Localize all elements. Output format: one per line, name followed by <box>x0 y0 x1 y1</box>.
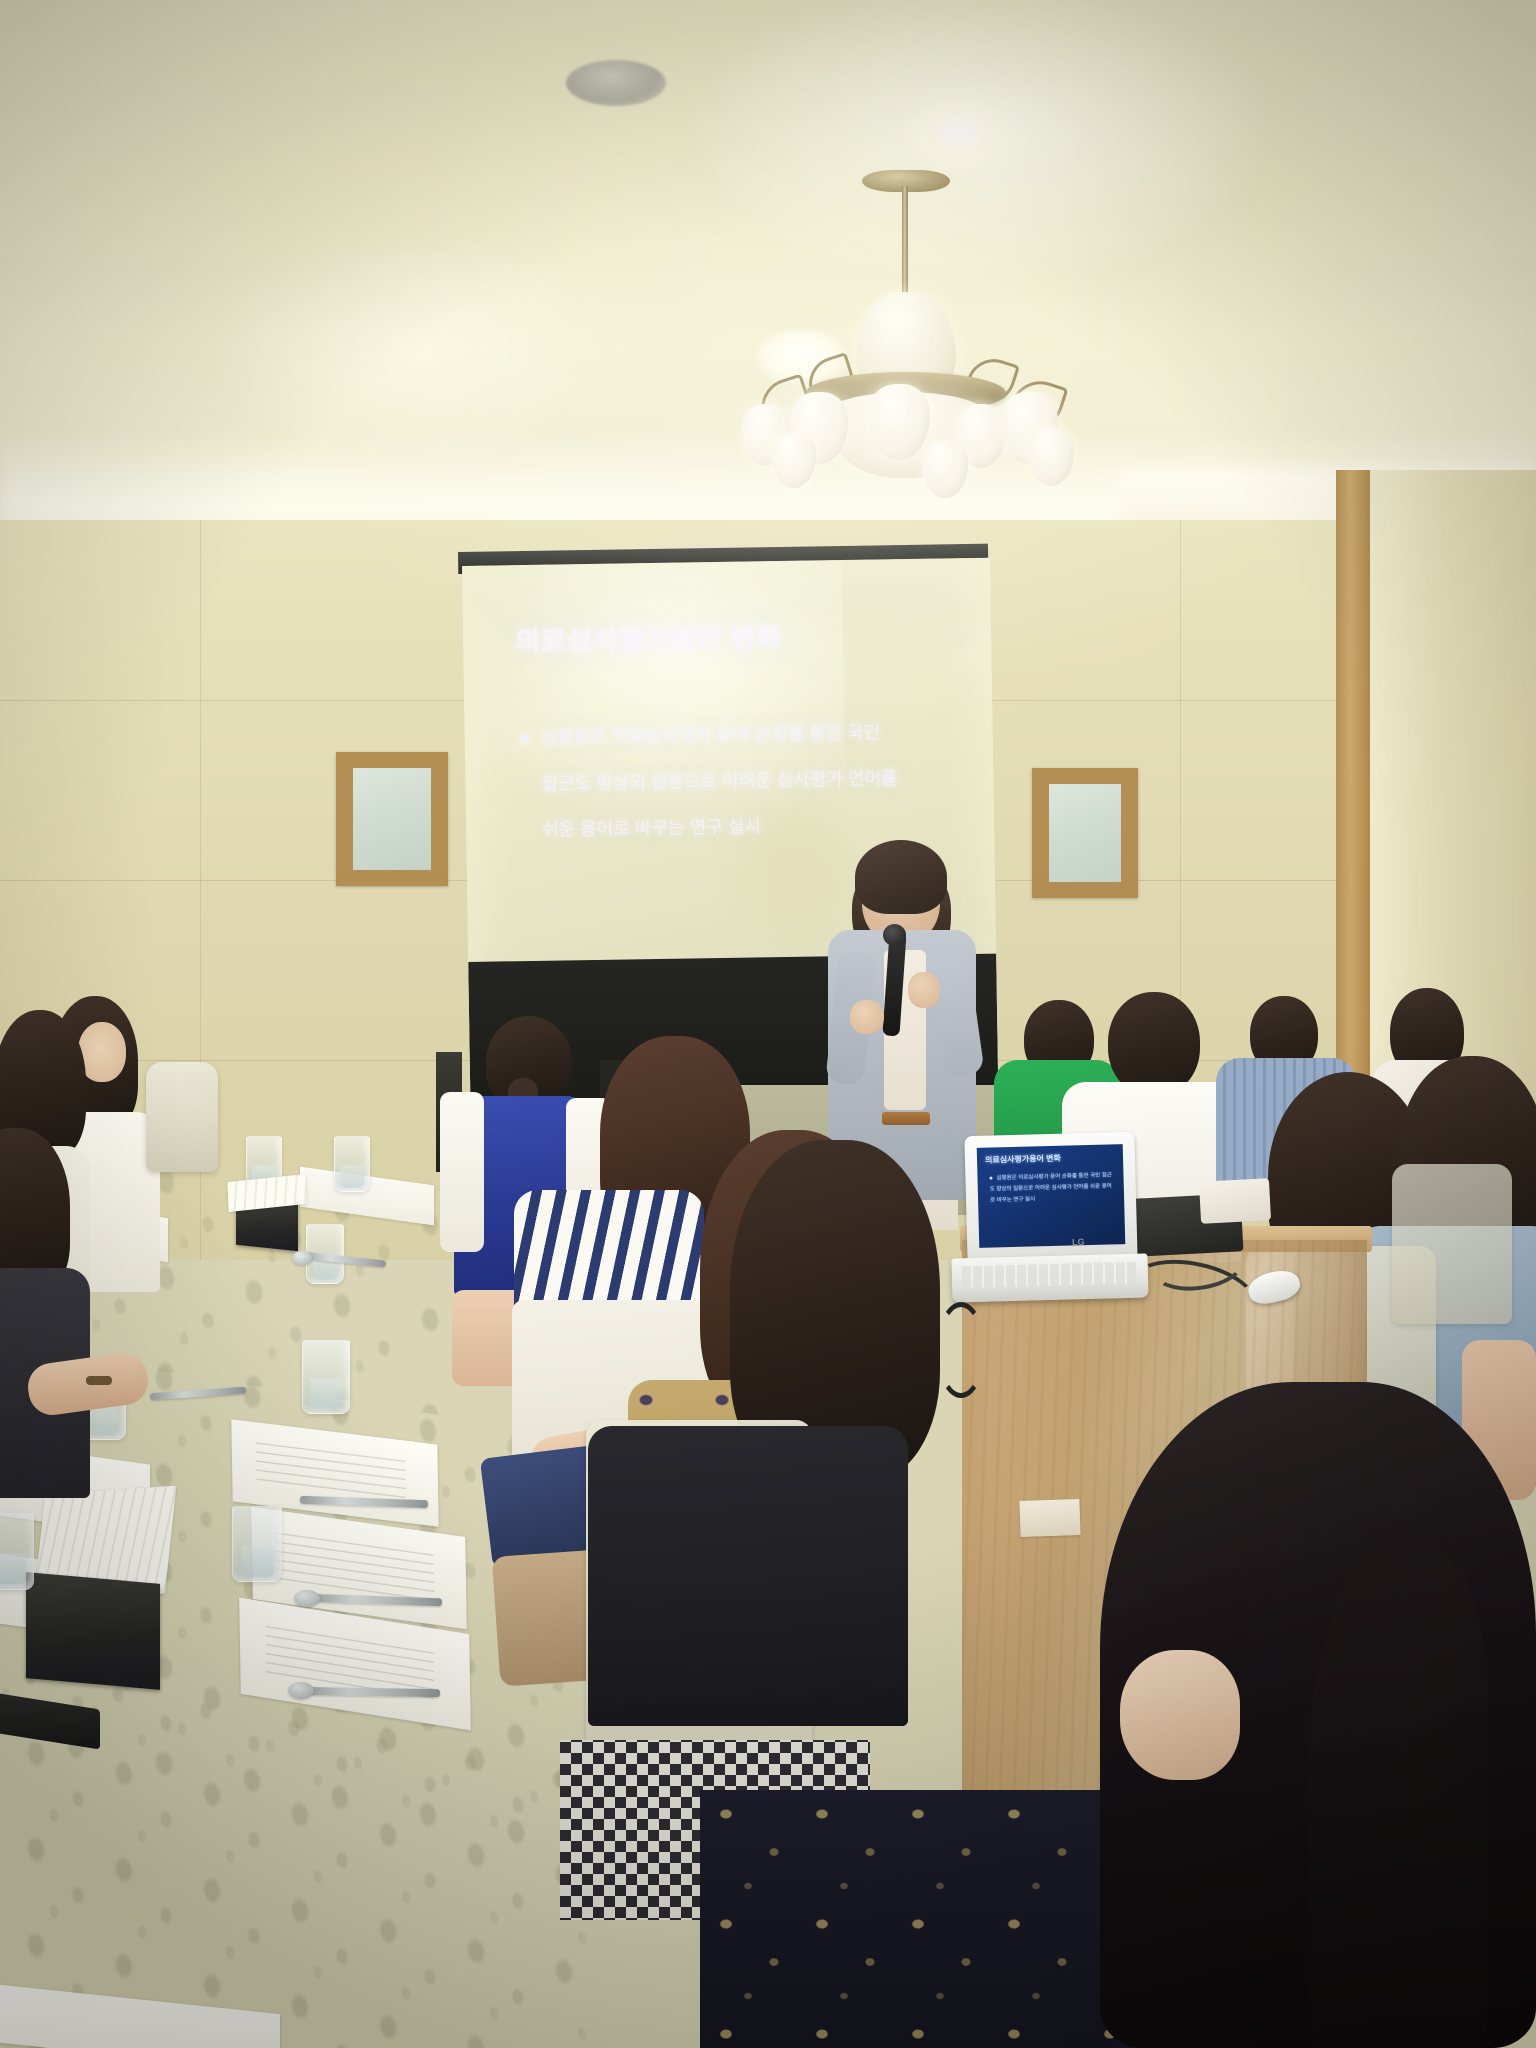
chair-back <box>1392 1164 1512 1324</box>
laptop-slide-body: 심평원은 의료심사평가 용어 순화를 통한 국민 접근도 향상의 일환으로 어려… <box>989 1170 1116 1206</box>
water-glass <box>302 1340 350 1414</box>
window-pane <box>1049 784 1121 882</box>
bullet-dot-icon <box>521 735 529 743</box>
chandelier-chain <box>902 186 908 296</box>
bullet-dot-icon <box>989 1177 992 1180</box>
document-text-lines <box>256 1442 407 1505</box>
seminar-room-photo: 의료심사평가용어 변화 심평원은 의료심사평가 용어 순화를 통한 국민 접근도… <box>0 0 1536 2048</box>
presenter-hand <box>908 972 940 1008</box>
laptop-slide-title: 의료심사평가용어 변화 <box>985 1153 1061 1166</box>
presenter-belt <box>882 1112 930 1125</box>
presenter-hand <box>850 1000 884 1034</box>
laptop-slide-text: 심평원은 의료심사평가 용어 순화를 통한 국민 접근도 향상의 일환으로 어려… <box>990 1172 1112 1203</box>
slide-bullet-list: 심평원은 의료심사평가 용어 순화를 통한 국민 접근도 향상의 일환으로 어려… <box>520 709 942 854</box>
wristwatch <box>86 1376 112 1385</box>
ceiling-speaker-icon <box>566 60 666 106</box>
spoon-head <box>288 1682 314 1699</box>
presenter-hair <box>855 840 947 914</box>
laptop-brand-label: LG <box>1072 1237 1085 1247</box>
slide-bullet-line: 심평원은 의료심사평가 용어 순화를 통한 국민 <box>541 722 881 747</box>
recessed-light-icon <box>905 100 1015 174</box>
slide-bullet-line: 접근도 향상의 일환으로 어려운 심사평가 언어를 <box>541 768 897 794</box>
water-glass <box>0 1512 34 1590</box>
water-glass <box>334 1136 370 1192</box>
spoon-head <box>294 1590 320 1607</box>
foreground-person-ponytail <box>1308 1550 1488 2048</box>
frosted-window-right <box>1032 768 1138 898</box>
spoon-head <box>292 1251 312 1265</box>
laptop-keyboard[interactable] <box>962 1262 1137 1289</box>
napkin-holder <box>26 1572 160 1690</box>
headset-cable <box>936 1302 986 1398</box>
audience-sleeve <box>440 1092 484 1252</box>
chair-back <box>146 1062 218 1172</box>
water-glass <box>232 1506 282 1582</box>
audience-head <box>1108 992 1200 1096</box>
av-device-white <box>1199 1178 1271 1224</box>
podium-label-card <box>1019 1499 1080 1537</box>
foreground-person-face <box>1120 1650 1240 1780</box>
slide-title: 의료심사평가용어 변화 <box>515 614 936 660</box>
audience-person-black-top-overlay <box>588 1426 908 1726</box>
slide-bullet-line: 쉬운 용어로 바꾸는 연구 실시 <box>542 816 761 839</box>
laptop-screen: 의료심사평가용어 변화 심평원은 의료심사평가 용어 순화를 통한 국민 접근도… <box>977 1144 1126 1248</box>
window-pane <box>353 768 431 870</box>
frosted-window-left <box>336 752 448 886</box>
microphone-head-icon <box>883 924 906 946</box>
